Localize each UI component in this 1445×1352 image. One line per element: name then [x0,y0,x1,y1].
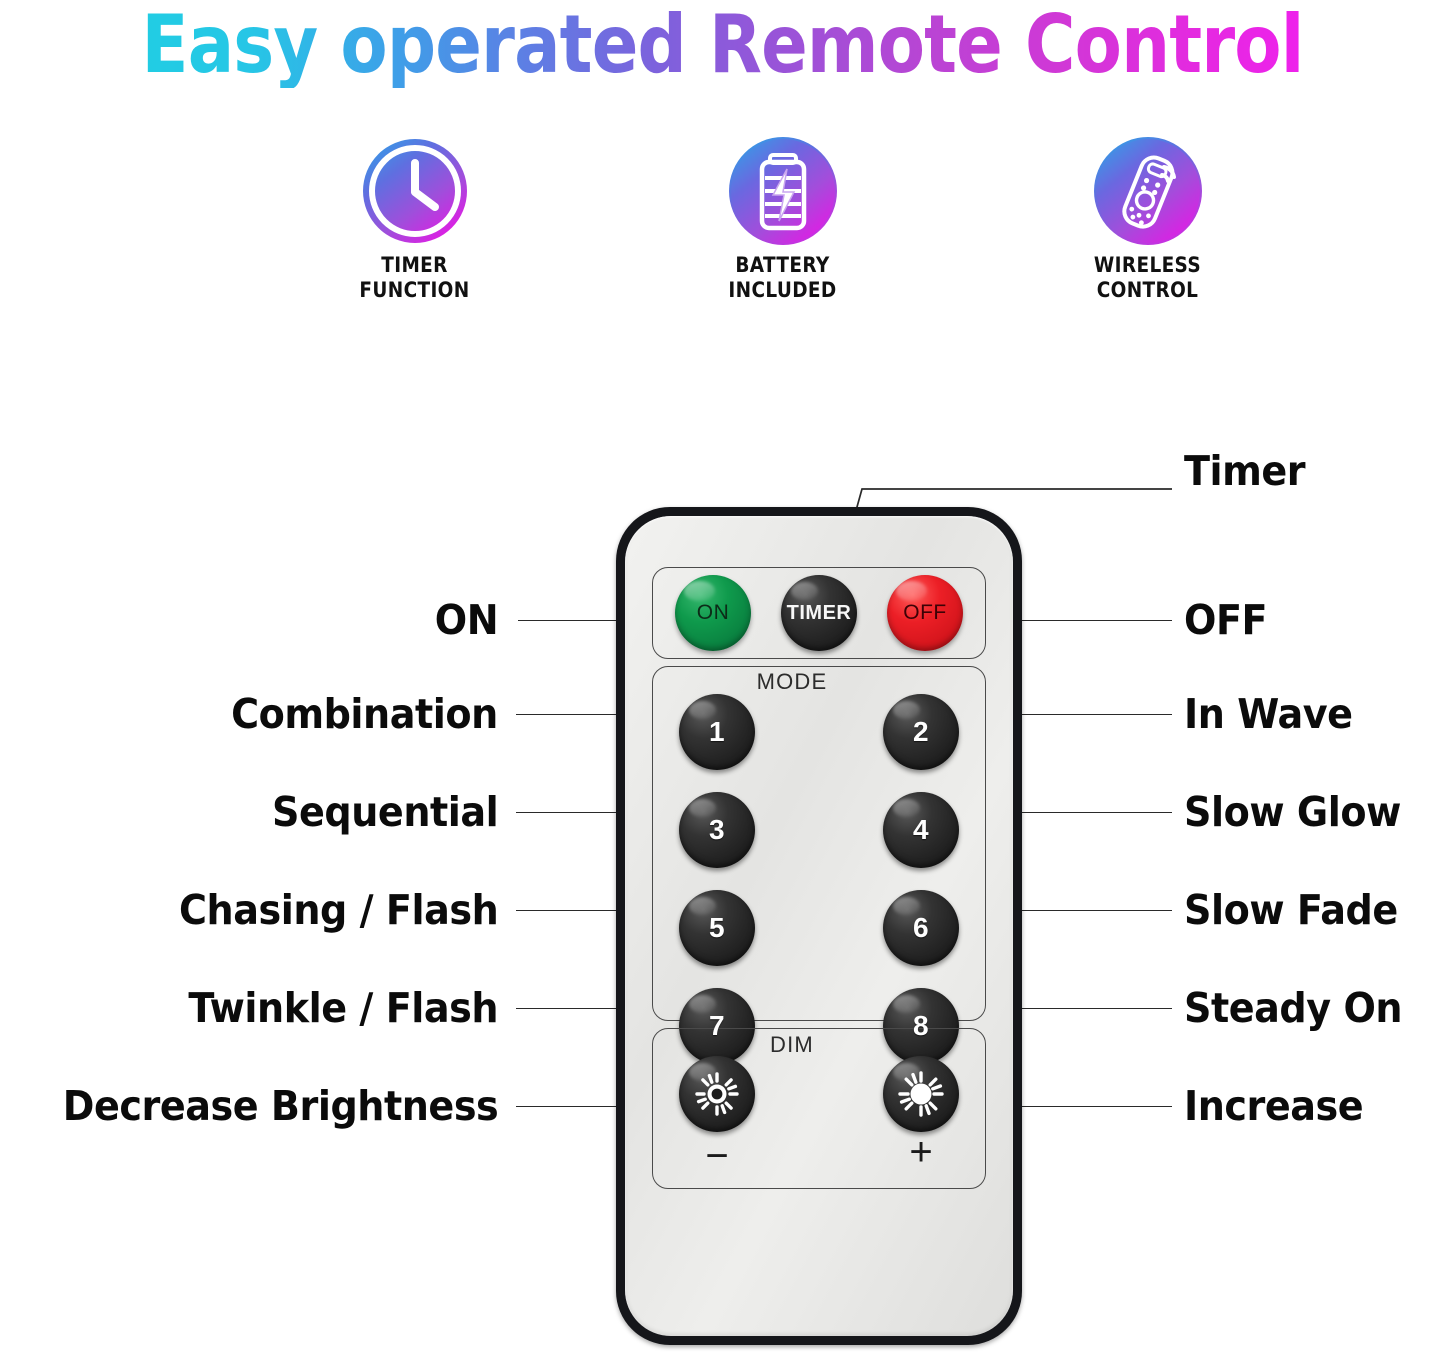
timer-button-label: TIMER [787,602,852,625]
mode-button-1[interactable]: 1 [679,694,755,770]
mode-button-label: 7 [709,1010,725,1042]
on-button-label: ON [697,601,730,625]
callout-on: ON [435,597,498,643]
mode-button-5[interactable]: 5 [679,890,755,966]
remote-control-body: ON TIMER OFF MODE 1 2 3 4 [616,507,1022,1345]
mode-button-3[interactable]: 3 [679,792,755,868]
remote-faceplate: ON TIMER OFF MODE 1 2 3 4 [625,516,1013,1336]
mode-button-label: 8 [913,1010,929,1042]
infographic-page: Easy operated Remote Control TIMER [0,0,1445,1352]
callout-combination: Combination [231,691,498,737]
off-button-label: OFF [903,601,947,625]
callout-decrease-brightness: Decrease Brightness [62,1083,498,1129]
mode-button-label: 5 [709,912,725,944]
on-button[interactable]: ON [675,575,751,651]
callout-timer: Timer [1184,448,1305,494]
mode-panel-label: MODE [625,669,959,695]
mode-button-6[interactable]: 6 [883,890,959,966]
callout-slow-fade: Slow Fade [1184,887,1398,933]
dim-panel-label: DIM [625,1032,959,1058]
dim-plus-label: + [883,1132,959,1172]
callout-steady-on: Steady On [1184,985,1402,1031]
sun-hollow-icon [897,1070,945,1118]
off-button[interactable]: OFF [887,575,963,651]
callout-slow-glow: Slow Glow [1184,789,1401,835]
callout-twinkle-flash: Twinkle / Flash [188,985,498,1031]
mode-button-label: 2 [913,716,929,748]
callout-increase: Increase [1184,1083,1363,1129]
callout-off: OFF [1184,597,1267,643]
mode-button-label: 3 [709,814,725,846]
mode-button-label: 6 [913,912,929,944]
mode-button-label: 1 [709,716,725,748]
mode-button-4[interactable]: 4 [883,792,959,868]
dim-minus-label: − [679,1136,755,1176]
mode-button-label: 4 [913,814,929,846]
brightness-up-button[interactable] [883,1056,959,1132]
brightness-down-button[interactable] [679,1056,755,1132]
callout-sequential: Sequential [272,789,498,835]
mode-button-2[interactable]: 2 [883,694,959,770]
sun-filled-icon [693,1070,741,1118]
callout-chasing-flash: Chasing / Flash [179,887,498,933]
callout-in-wave: In Wave [1184,691,1353,737]
timer-button[interactable]: TIMER [781,575,857,651]
